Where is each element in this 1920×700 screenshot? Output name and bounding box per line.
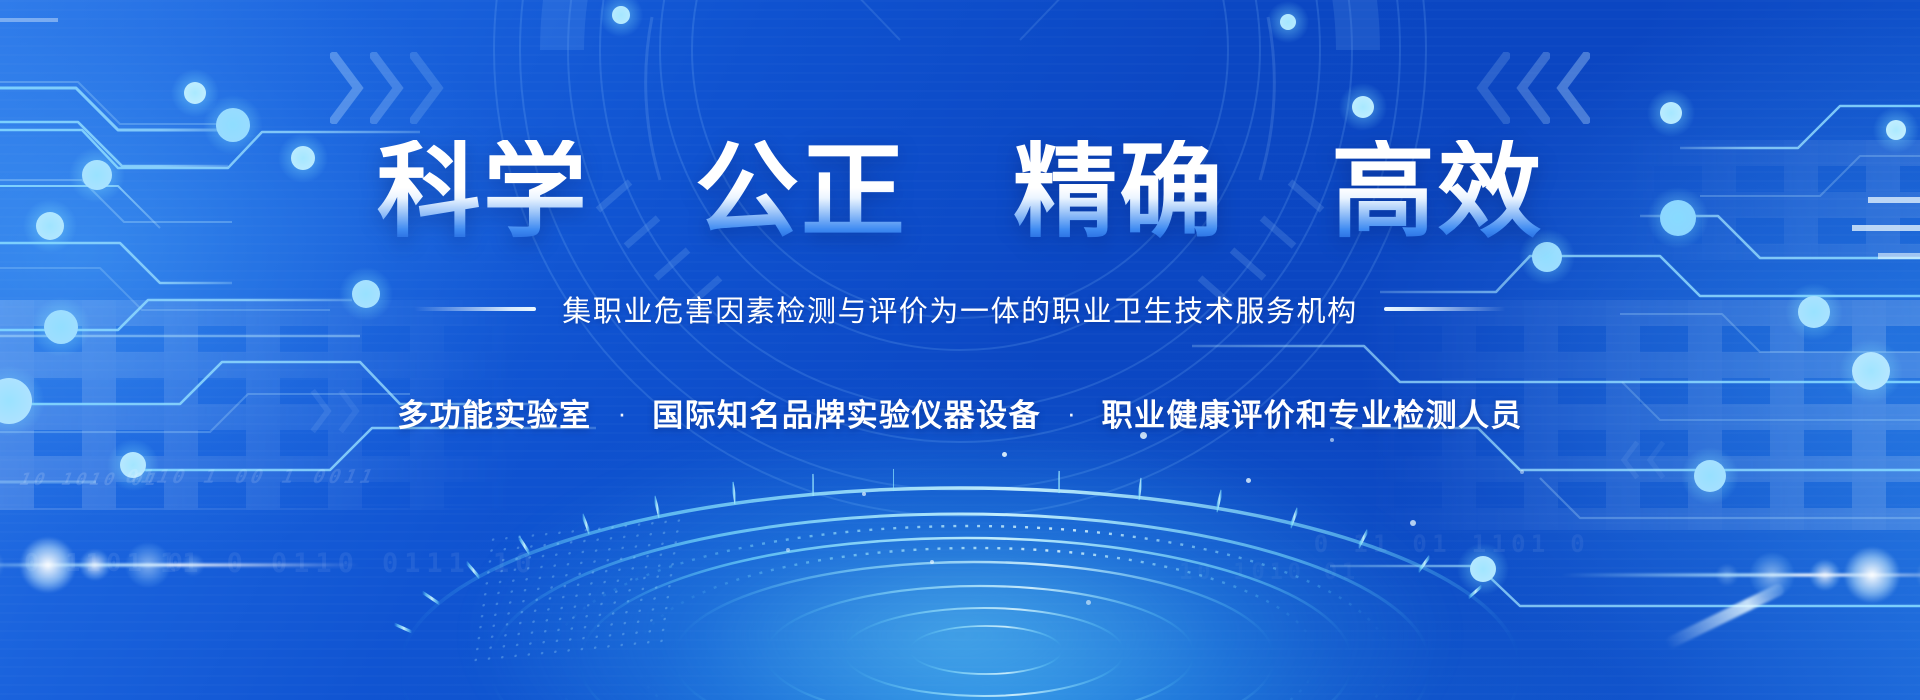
title-word-3: 精确 [1013, 140, 1225, 244]
subtitle: 集职业危害因素检测与评价为一体的职业卫生技术服务机构 [562, 288, 1357, 330]
tagline-3: 职业健康评价和专业检测人员 [1102, 390, 1523, 435]
title-word-1: 科学 [377, 140, 589, 244]
tagline-separator: · [1067, 400, 1076, 426]
tagline-1: 多功能实验室 [397, 390, 591, 435]
banner-content: 科学 公正 精确 高效 集职业危害因素检测与评价为一体的职业卫生技术服务机构 多… [0, 0, 1920, 700]
page-title: 科学 公正 精确 高效 [377, 140, 1544, 244]
subtitle-rule-right [1384, 307, 1506, 311]
tagline-row: 多功能实验室 · 国际知名品牌实验仪器设备 · 职业健康评价和专业检测人员 [397, 390, 1523, 435]
subtitle-rule-left [414, 307, 536, 311]
hero-banner: 10 1010 01 0110 1 00 1 0011 0 1101 0 11 … [0, 0, 1920, 700]
title-word-4: 高效 [1331, 140, 1543, 244]
tagline-2: 国际知名品牌实验仪器设备 [652, 390, 1041, 435]
subtitle-row: 集职业危害因素检测与评价为一体的职业卫生技术服务机构 [414, 288, 1505, 330]
title-word-2: 公正 [695, 140, 907, 244]
tagline-separator: · [618, 400, 627, 426]
